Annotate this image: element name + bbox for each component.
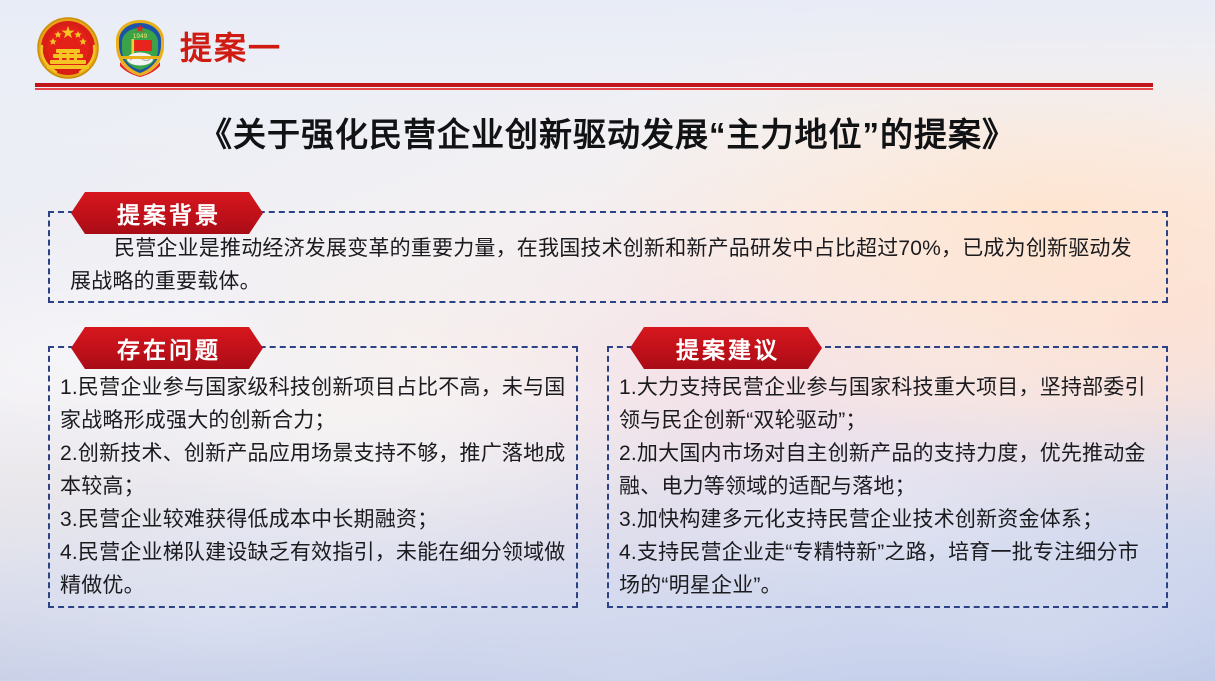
proposal-suggestions-text: 1.大力支持民营企业参与国家科技重大项目，坚持部委引领与民企创新“双轮驱动”； … xyxy=(619,371,1159,602)
slide-header: 1949 提案一 xyxy=(0,0,1215,96)
cppcc-emblem-icon: 1949 xyxy=(108,16,172,80)
header-divider-thick xyxy=(35,83,1153,87)
national-emblem-of-china-icon xyxy=(36,16,100,80)
proposal-background-text: 民营企业是推动经济发展变革的重要力量，在我国技术创新和新产品研发中占比超过70%… xyxy=(70,232,1148,298)
ribbon-label-proposal-suggestions: 提案建议 xyxy=(630,327,822,369)
header-divider-thin xyxy=(35,88,1153,90)
existing-problems-text: 1.民营企业参与国家级科技创新项目占比不高，未与国家战略形成强大的创新合力； 2… xyxy=(60,371,570,602)
slide-root: 1949 提案一 《关于强化民营企业创新驱动发展“主力地位”的提案》 提案背景 … xyxy=(0,0,1215,681)
ribbon-label-proposal-background: 提案背景 xyxy=(71,192,263,234)
emblem-group: 1949 xyxy=(36,16,172,80)
svg-text:1949: 1949 xyxy=(133,33,148,40)
header-title: 提案一 xyxy=(180,32,282,64)
page-title: 《关于强化民营企业创新驱动发展“主力地位”的提案》 xyxy=(0,114,1215,155)
ribbon-label-existing-problems: 存在问题 xyxy=(71,327,263,369)
